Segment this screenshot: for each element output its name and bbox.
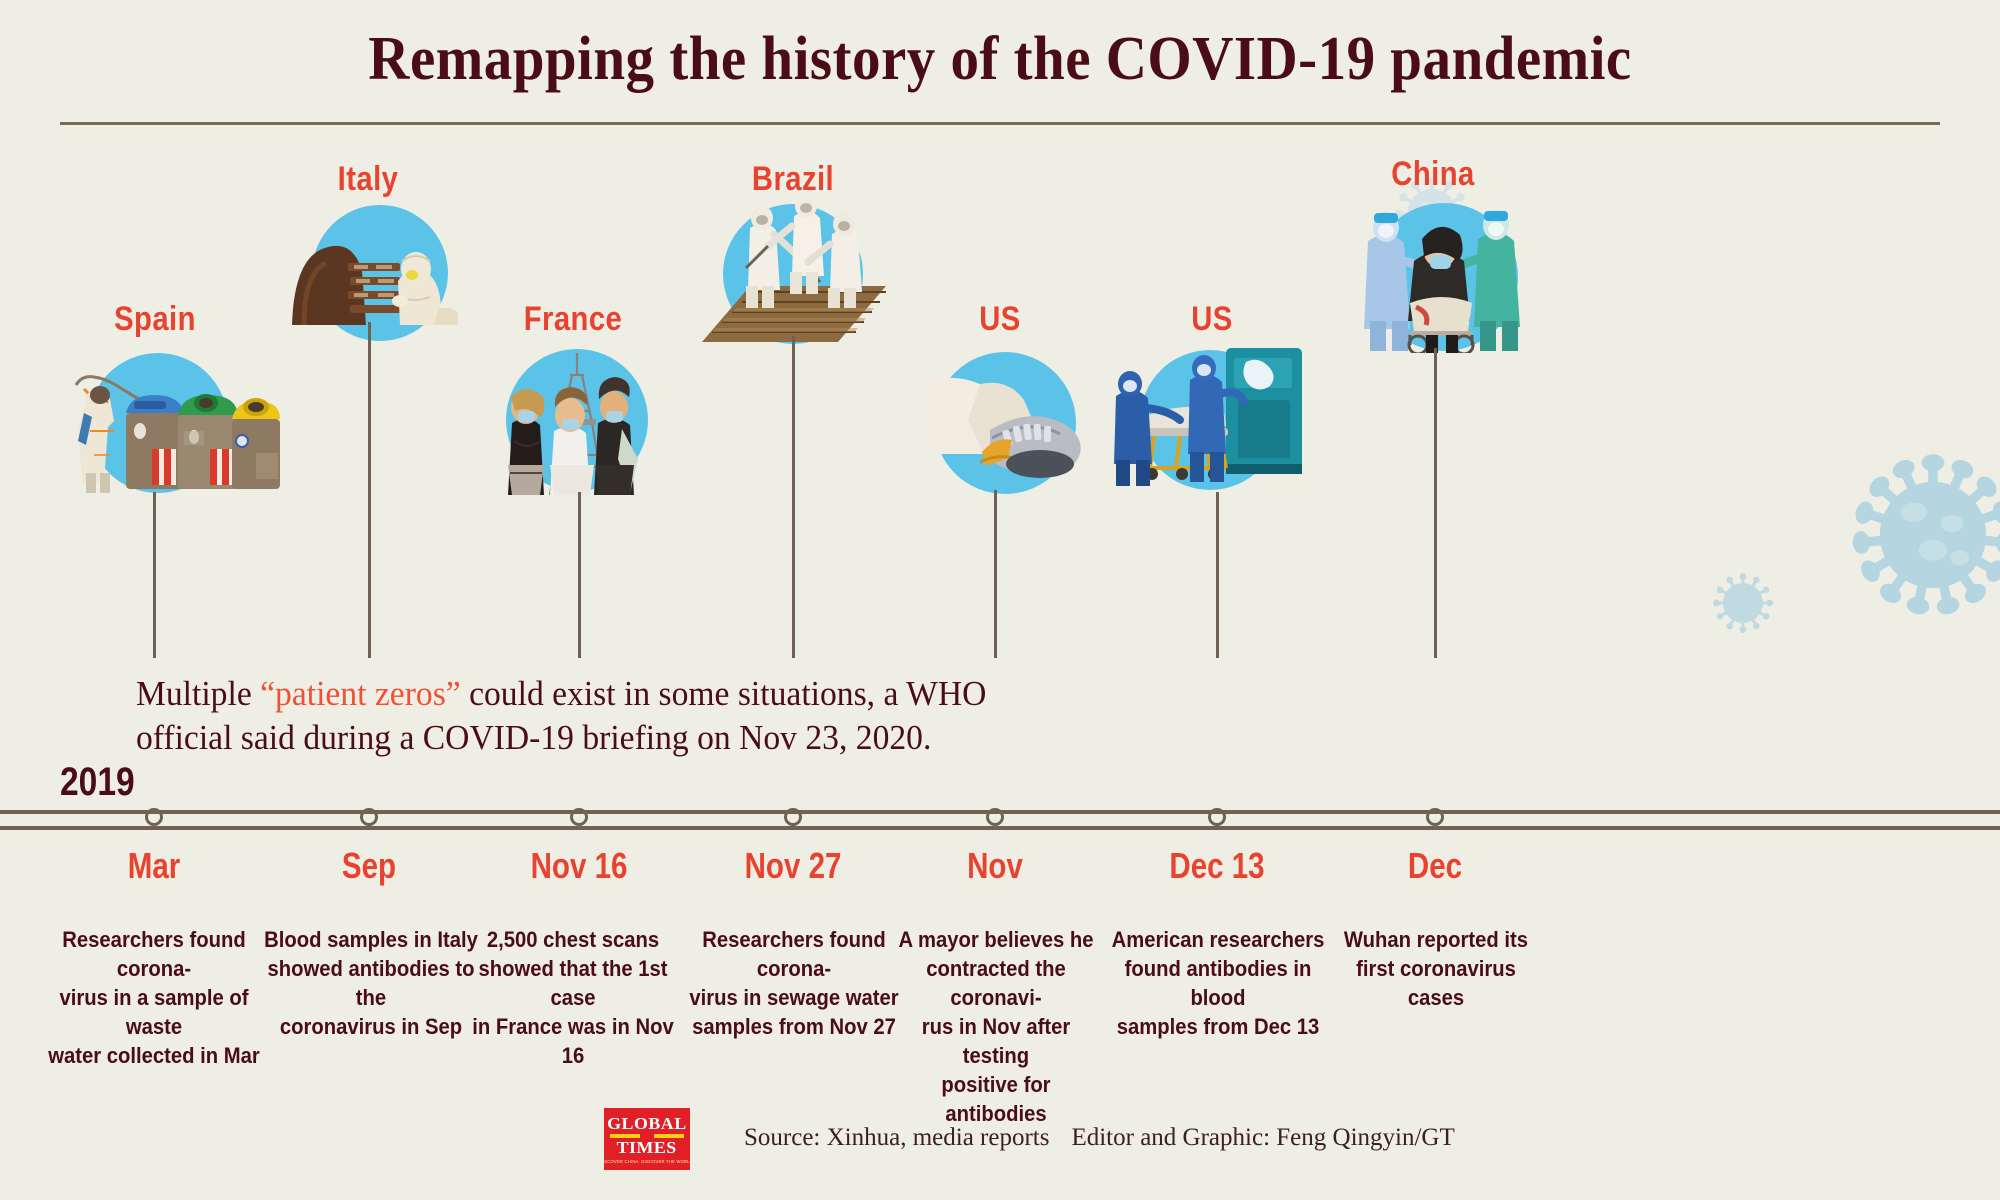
date-label-mar: Mar: [72, 845, 236, 887]
us-nov-photo: [920, 348, 1090, 494]
us-dec13-photo: [1110, 340, 1310, 495]
brazil-photo: [698, 200, 893, 340]
date-label-dec: Dec: [1353, 845, 1517, 887]
logo-tagline: DISCOVER CHINA. DISCOVER THE WORLD.: [604, 1159, 690, 1164]
country-label-us-nov: US: [914, 300, 1086, 339]
france-eiffel-masks-photo: [488, 345, 666, 495]
country-label-china: China: [1347, 155, 1519, 194]
event-stem: [1434, 348, 1437, 658]
country-label-brazil: Brazil: [707, 160, 879, 199]
event-stem: [153, 492, 156, 658]
timeline-axis-bottom: [0, 826, 2000, 830]
event-stem: [368, 322, 371, 658]
country-label-italy: Italy: [282, 160, 454, 199]
infographic-canvas: Remapping the history of the COVID-19 pa…: [0, 0, 2000, 1200]
global-times-logo[interactable]: GLOBAL TIMES DISCOVER CHINA. DISCOVER TH…: [604, 1108, 690, 1170]
event-caption-us-dec13: American researchersfound antibodies in …: [1106, 925, 1329, 1041]
china-wheelchair-patient-photo: [1352, 195, 1537, 353]
spain-photo: [60, 345, 280, 495]
event-stem: [578, 492, 581, 658]
event-stem: [1216, 492, 1219, 658]
china-photo: [1352, 195, 1537, 350]
event-caption-spain: Researchers found corona-virus in a samp…: [33, 925, 274, 1070]
virus-decoration-icon: [1706, 566, 1780, 640]
title-divider: [60, 122, 1940, 125]
quote-highlight: “patient zeros”: [260, 674, 461, 713]
logo-line-times: TIMES: [617, 1139, 677, 1157]
event-stem: [994, 490, 997, 658]
date-label-nov: Nov: [913, 845, 1077, 887]
brazil-stairs-disinfection-photo: [698, 200, 893, 342]
country-label-spain: Spain: [69, 300, 241, 339]
virus-decoration-icon: [1838, 440, 2000, 630]
france-photo: [488, 345, 666, 495]
italy-hospital-photo: [290, 205, 490, 325]
date-label-nov27: Nov 27: [711, 845, 875, 887]
logo-line-global: GLOBAL: [607, 1115, 687, 1133]
page-title: Remapping the history of the COVID-19 pa…: [80, 24, 1920, 95]
country-label-france: France: [487, 300, 659, 339]
event-caption-italy: Blood samples in Italyshowed antibodies …: [264, 925, 478, 1041]
spain-disinfection-photo: [60, 345, 280, 497]
us-ambulance-stretcher-photo: [1110, 340, 1310, 496]
quote-before: Multiple: [136, 674, 260, 713]
event-caption-brazil: Researchers found corona-virus in sewage…: [681, 925, 908, 1041]
date-label-dec13: Dec 13: [1135, 845, 1299, 887]
event-caption-us-nov: A mayor believes hecontracted the corona…: [896, 925, 1096, 1128]
italy-photo: [290, 205, 490, 325]
event-caption-china: Wuhan reported itsfirst coronavirus case…: [1333, 925, 1538, 1012]
source-label: Source: Xinhua, media reports: [744, 1124, 1049, 1151]
timeline-year-label: 2019: [60, 760, 135, 805]
who-quote: Multiple “patient zeros” could exist in …: [136, 672, 1000, 760]
event-stem: [792, 336, 795, 658]
us-gloved-hand-photo: [920, 348, 1090, 494]
date-label-nov16: Nov 16: [497, 845, 661, 887]
timeline-axis-top: [0, 810, 2000, 814]
footer-credits: Source: Xinhua, media reportsEditor and …: [744, 1124, 1455, 1152]
country-label-us-dec13: US: [1126, 300, 1298, 339]
credit-label: Editor and Graphic: Feng Qingyin/GT: [1071, 1124, 1454, 1151]
event-caption-france: 2,500 chest scansshowed that the 1st cas…: [470, 925, 677, 1070]
date-label-sep: Sep: [287, 845, 451, 887]
